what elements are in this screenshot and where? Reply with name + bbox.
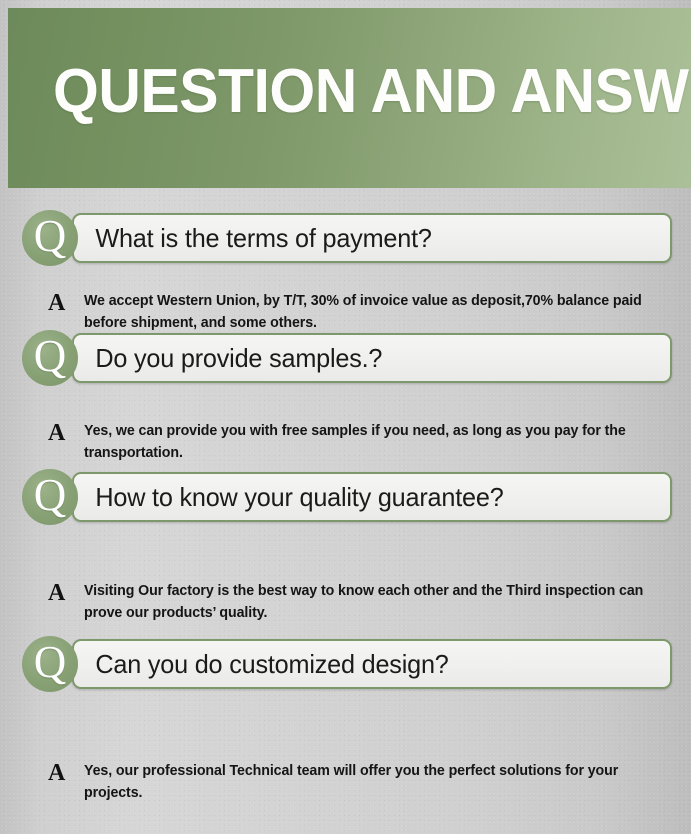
- question-badge-letter: Q: [34, 214, 67, 259]
- question-badge-letter: Q: [34, 640, 67, 685]
- question-badge-icon: Q: [22, 330, 78, 386]
- question-box[interactable]: What is the terms of payment?: [72, 213, 672, 263]
- qa-block: Q What is the terms of payment? A We acc…: [0, 188, 691, 334]
- question-text: How to know your quality guarantee?: [74, 482, 504, 513]
- question-box[interactable]: How to know your quality guarantee?: [72, 472, 672, 522]
- question-badge-letter: Q: [34, 334, 67, 379]
- qa-list: Q What is the terms of payment? A We acc…: [0, 188, 691, 800]
- question-row: Q Can you do customized design?: [0, 640, 691, 698]
- qa-block: Q Do you provide samples.? A Yes, we can…: [0, 334, 691, 474]
- question-text: Can you do customized design?: [74, 649, 449, 680]
- question-text: What is the terms of payment?: [74, 223, 432, 254]
- question-badge-letter: Q: [34, 473, 67, 518]
- page-header-banner: QUESTION AND ANSWER: [8, 8, 691, 188]
- answer-row: A Yes, we can provide you with free samp…: [0, 392, 691, 464]
- question-row: Q How to know your quality guarantee?: [0, 474, 691, 532]
- answer-label: A: [48, 420, 84, 464]
- answer-text: Yes, our professional Technical team wil…: [84, 760, 660, 804]
- answer-row: A Yes, our professional Technical team w…: [0, 698, 691, 804]
- qa-block: Q How to know your quality guarantee? A …: [0, 474, 691, 640]
- answer-text: Visiting Our factory is the best way to …: [84, 580, 664, 624]
- question-badge-icon: Q: [22, 636, 78, 692]
- question-box[interactable]: Can you do customized design?: [72, 639, 672, 689]
- question-row: Q Do you provide samples.?: [0, 334, 691, 392]
- faq-page: QUESTION AND ANSWER Q What is the terms …: [0, 0, 691, 834]
- answer-label: A: [48, 290, 84, 334]
- question-badge-icon: Q: [22, 469, 78, 525]
- answer-label: A: [48, 760, 84, 804]
- answer-label: A: [48, 580, 84, 624]
- qa-block: Q Can you do customized design? A Yes, o…: [0, 640, 691, 800]
- answer-row: A Visiting Our factory is the best way t…: [0, 532, 691, 624]
- question-row: Q What is the terms of payment?: [0, 188, 691, 246]
- question-badge-icon: Q: [22, 210, 78, 266]
- answer-text: We accept Western Union, by T/T, 30% of …: [84, 290, 650, 334]
- answer-text: Yes, we can provide you with free sample…: [84, 420, 660, 464]
- question-text: Do you provide samples.?: [74, 343, 382, 374]
- page-title: QUESTION AND ANSWER: [53, 58, 691, 126]
- question-box[interactable]: Do you provide samples.?: [72, 333, 672, 383]
